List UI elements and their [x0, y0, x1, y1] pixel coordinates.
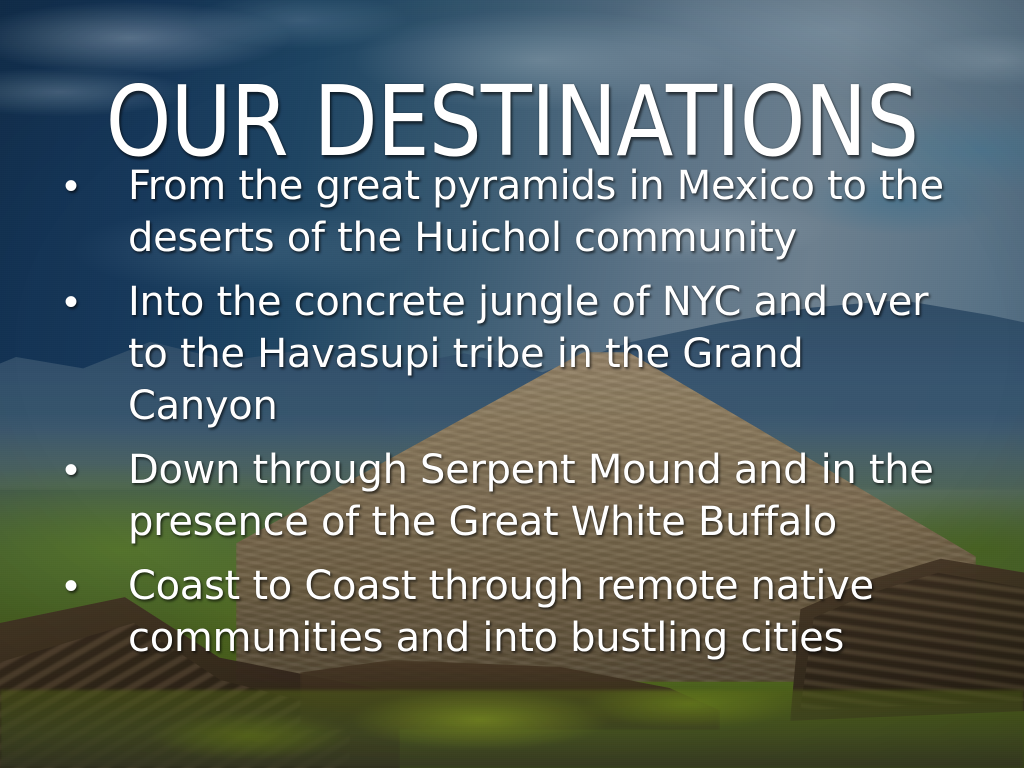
bullet-point-icon: •: [52, 160, 128, 212]
bullet-point-icon: •: [52, 276, 128, 328]
slide-title: OUR DESTINATIONS: [72, 73, 953, 170]
bullet-text-4: Coast to Coast through remote native com…: [128, 560, 952, 664]
bullet-item-1: • From the great pyramids in Mexico to t…: [52, 160, 952, 264]
bullet-item-2: • Into the concrete jungle of NYC and ov…: [52, 276, 952, 432]
bullet-item-3: • Down through Serpent Mound and in the …: [52, 444, 952, 548]
bullet-list: • From the great pyramids in Mexico to t…: [52, 160, 952, 676]
bullet-text-2: Into the concrete jungle of NYC and over…: [128, 276, 952, 432]
bullet-item-4: • Coast to Coast through remote native c…: [52, 560, 952, 664]
presentation-slide: OUR DESTINATIONS • From the great pyrami…: [0, 0, 1024, 768]
bullet-text-1: From the great pyramids in Mexico to the…: [128, 160, 952, 264]
slide-content: OUR DESTINATIONS • From the great pyrami…: [0, 0, 1024, 768]
bullet-point-icon: •: [52, 444, 128, 496]
bullet-text-3: Down through Serpent Mound and in the pr…: [128, 444, 952, 548]
bullet-point-icon: •: [52, 560, 128, 612]
